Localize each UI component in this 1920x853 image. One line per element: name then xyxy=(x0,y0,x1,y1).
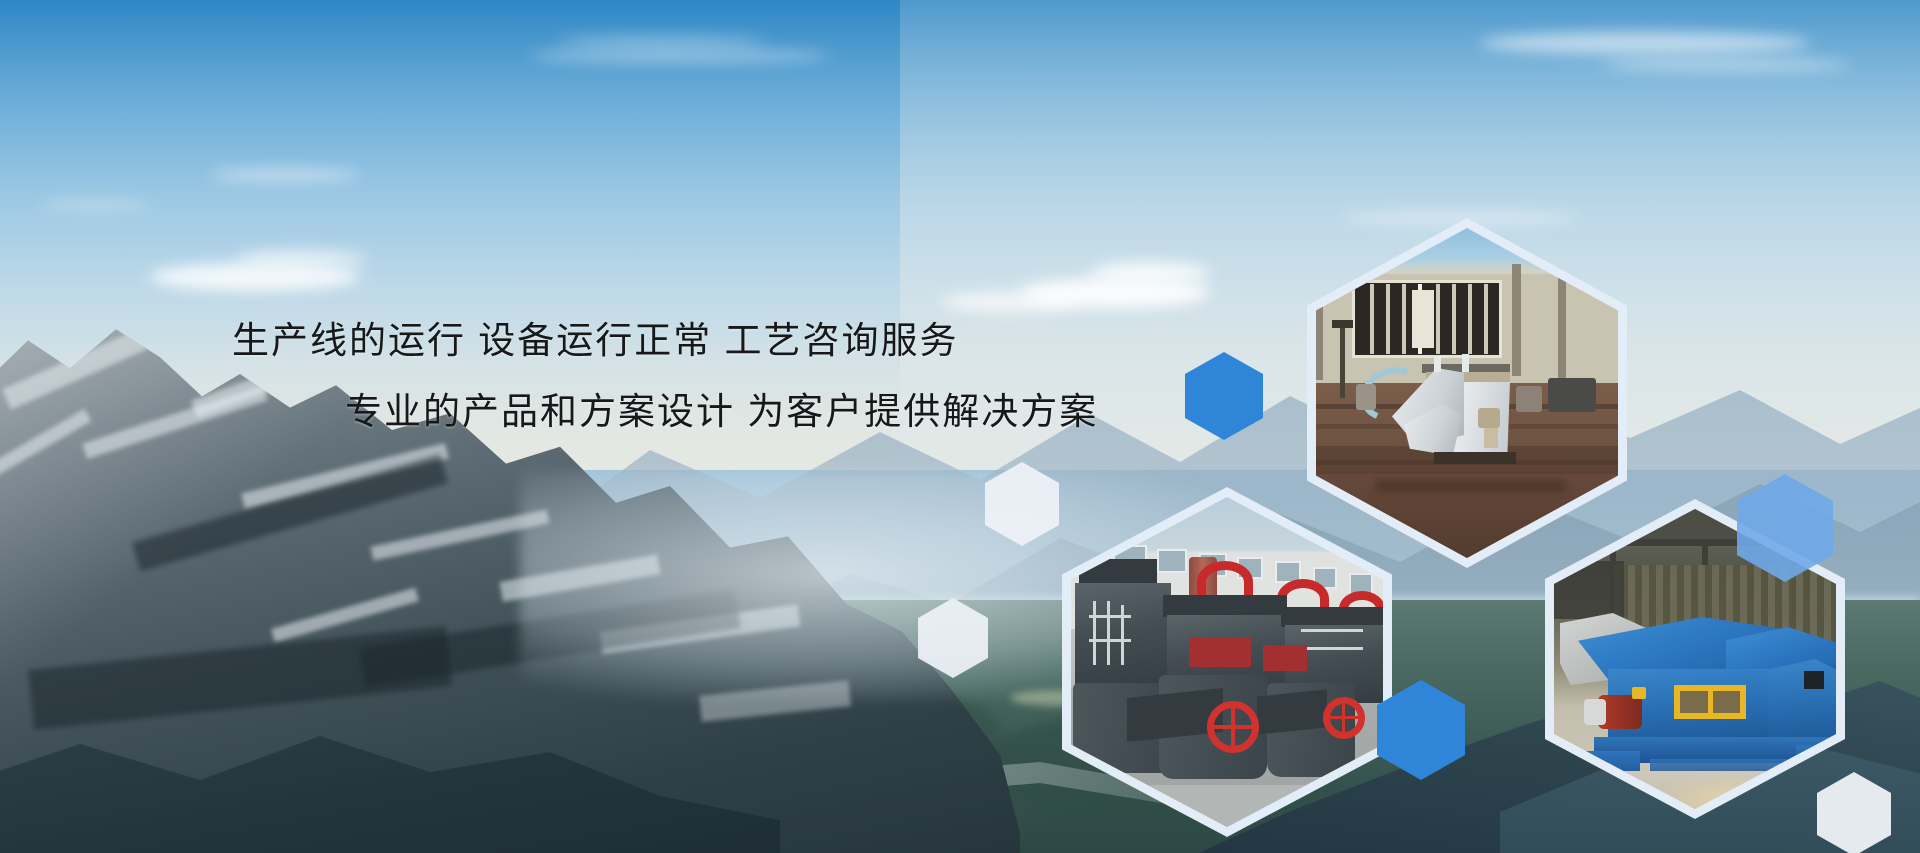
headline-line-2: 专业的产品和方案设计 为客户提供解决方案 xyxy=(0,391,1120,434)
photo-clip xyxy=(1071,497,1383,827)
hero-banner: 生产线的运行 设备运行正常 工艺咨询服务 专业的产品和方案设计 为客户提供解决方… xyxy=(0,0,1920,853)
headline-block: 生产线的运行 设备运行正常 工艺咨询服务 专业的产品和方案设计 为客户提供解决方… xyxy=(0,320,1120,433)
photo-clip xyxy=(1316,228,1618,558)
photo-filter-press-line xyxy=(1071,497,1383,827)
photo-casting-ladle-machine xyxy=(1316,228,1618,558)
headline-line-1: 生产线的运行 设备运行正常 工艺咨询服务 xyxy=(0,320,1120,363)
